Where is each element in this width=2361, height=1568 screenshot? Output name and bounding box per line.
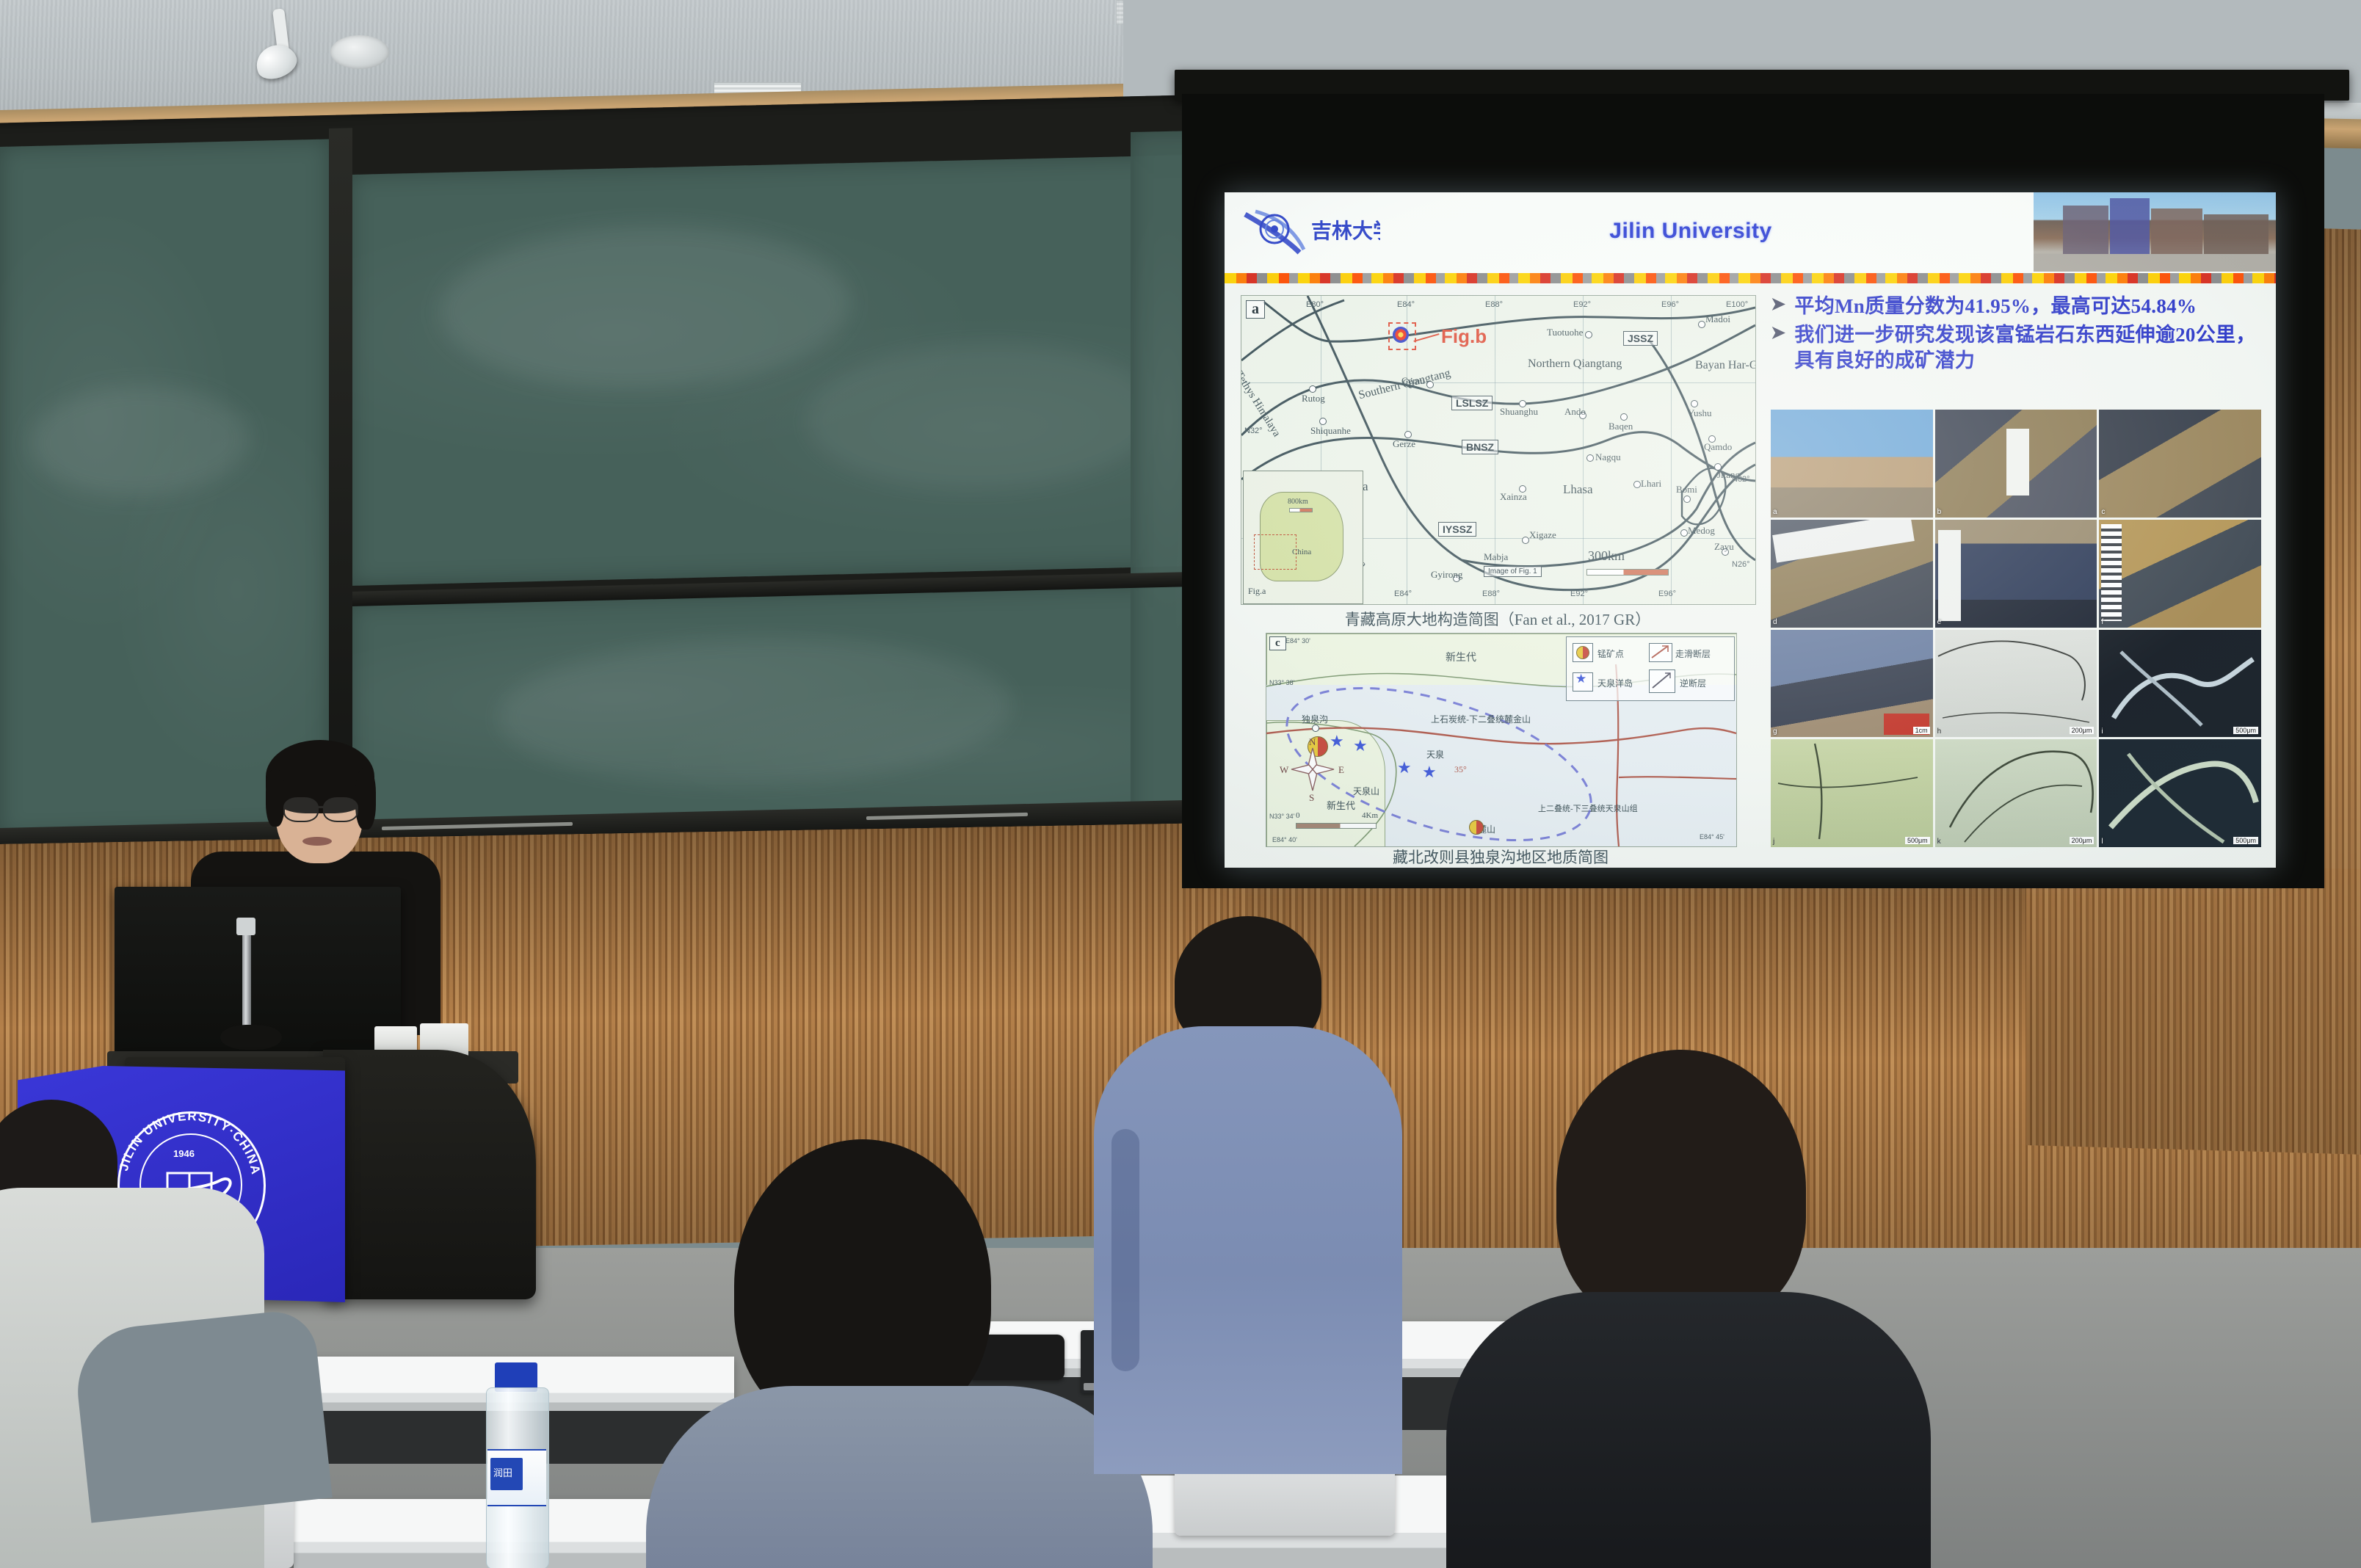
photo-scale-bar: 500μm bbox=[2233, 727, 2258, 734]
photo-scale-bar: 200μm bbox=[2070, 727, 2095, 734]
ocean-island-star: ★ bbox=[1353, 738, 1368, 754]
scalebar-max: 4Km bbox=[1362, 811, 1378, 820]
suture-zone-label: IYSSZ bbox=[1438, 522, 1476, 537]
ocean-island-star: ★ bbox=[1397, 760, 1412, 776]
glasses-bridge bbox=[316, 806, 324, 808]
lon-tick: E80° bbox=[1306, 300, 1324, 309]
coord-label: E84° 40' bbox=[1272, 836, 1297, 843]
photo-scale-bar: 200μm bbox=[2070, 837, 2095, 844]
figure-c-panel-letter: c bbox=[1269, 636, 1286, 650]
city-label: Xigaze bbox=[1529, 529, 1556, 541]
geo-unit-label: 新生代 bbox=[1327, 798, 1355, 812]
sample-photo: e bbox=[1935, 520, 2097, 628]
bullet-text: 我们进一步研究发现该富锰岩石东西延伸逾20公里，具有良好的成矿潜力 bbox=[1794, 322, 2264, 374]
ocean-island-star: ★ bbox=[1422, 764, 1437, 780]
bullet-marker-icon: ➤ bbox=[1771, 322, 1785, 374]
city-label: Lhari bbox=[1641, 478, 1661, 490]
figure-c-geological-map: c 新生代 上石炭统-下二叠统麓金山 上二叠统-下三叠统天泉山组 新生代 独泉沟… bbox=[1266, 633, 1737, 847]
microphone-head bbox=[236, 918, 255, 935]
lon-tick: E100° bbox=[1726, 300, 1748, 309]
coord-label: N33° 34' bbox=[1269, 813, 1294, 820]
photo-tag: c bbox=[2101, 508, 2105, 516]
thin-section-photo: j 500μm bbox=[1771, 739, 1933, 847]
photo-scale-bar: 500μm bbox=[2233, 837, 2258, 844]
city-label: Rutog bbox=[1302, 393, 1325, 404]
city-label: Zayu bbox=[1714, 541, 1734, 553]
photo-tag: e bbox=[1937, 618, 1942, 626]
city-label: Tuotuohe bbox=[1547, 327, 1583, 338]
compass-rose-icon bbox=[1288, 744, 1337, 795]
lat-tick: N32° bbox=[1244, 427, 1263, 435]
lon-tick: E88° bbox=[1485, 300, 1503, 309]
lon-tick: E96° bbox=[1658, 589, 1676, 598]
presenter-hair-side bbox=[266, 769, 285, 827]
city-label: Xainza bbox=[1500, 491, 1527, 503]
photo-tag: l bbox=[2101, 838, 2103, 846]
photo-tag: j bbox=[1773, 838, 1774, 846]
legend-label: 走滑断层 bbox=[1675, 647, 1711, 660]
city-label: Shiquanhe bbox=[1310, 425, 1351, 437]
photo-tag: h bbox=[1937, 727, 1942, 736]
audience-center-blue bbox=[1065, 916, 1432, 1474]
campus-building-photo bbox=[2034, 192, 2276, 272]
audience-arm bbox=[71, 1307, 332, 1522]
coord-label: E84° 45' bbox=[1700, 833, 1724, 841]
dip-label: 35° bbox=[1454, 764, 1467, 775]
slide-accent-bar bbox=[1225, 273, 2276, 283]
audience-blue-shirt bbox=[1094, 1026, 1402, 1474]
city-label: Medog bbox=[1688, 525, 1715, 537]
terrane-label: Lhasa bbox=[1563, 482, 1593, 497]
compass-w: W bbox=[1280, 764, 1288, 776]
bullet-item: ➤ 平均Mn质量分数为41.95%，最高可达54.84% bbox=[1771, 294, 2264, 319]
audience-black-tee bbox=[1446, 1292, 1931, 1568]
geo-unit-label: 新生代 bbox=[1446, 650, 1476, 664]
city-label: Yushu bbox=[1688, 407, 1712, 419]
microphone-base bbox=[220, 1025, 282, 1050]
figure-c-legend: 锰矿点 走滑断层 ★ 天泉洋岛 逆断层 bbox=[1566, 636, 1735, 701]
lon-tick: E88° bbox=[1482, 589, 1500, 598]
glasses-right-lens bbox=[323, 797, 358, 822]
city-label: Baqen bbox=[1609, 421, 1633, 432]
presenter-hair-side bbox=[355, 768, 376, 830]
geo-unit-label: 上二叠统-下三叠统天泉山组 bbox=[1538, 802, 1638, 814]
legend-label: 逆断层 bbox=[1680, 677, 1706, 689]
sample-photo: f bbox=[2099, 520, 2261, 628]
photo-tag: i bbox=[2101, 727, 2103, 736]
thin-section-photo: i 500μm bbox=[2099, 630, 2261, 738]
lon-tick: E84° bbox=[1394, 589, 1412, 598]
outcrop-photo: b bbox=[1935, 410, 2097, 518]
photo-tag: a bbox=[1773, 508, 1777, 516]
city-label: Nagqu bbox=[1595, 451, 1621, 463]
city-label: Mabja bbox=[1484, 551, 1508, 563]
sample-photo: d bbox=[1771, 520, 1933, 628]
glasses-left-lens bbox=[283, 797, 319, 822]
photo-grid: a b c d e f g bbox=[1771, 410, 2261, 847]
field-photo: a bbox=[1771, 410, 1933, 518]
outcrop-photo: c bbox=[2099, 410, 2261, 518]
compass-s: S bbox=[1309, 792, 1314, 804]
compass-e: E bbox=[1338, 764, 1344, 776]
image-note: Image of Fig. 1 bbox=[1484, 566, 1542, 577]
audience-left-foreground bbox=[0, 1100, 279, 1568]
audience-right-black bbox=[1461, 1050, 1916, 1568]
lecture-hall-photo: 吉林大学 Jilin University bbox=[0, 0, 2361, 1568]
bullet-item: ➤ 我们进一步研究发现该富锰岩石东西延伸逾20公里，具有良好的成矿潜力 bbox=[1771, 322, 2264, 374]
place-label: 天泉山 bbox=[1353, 785, 1379, 797]
place-label: 天泉 bbox=[1426, 748, 1444, 761]
lat-tick: N26° bbox=[1732, 560, 1750, 569]
figure-a-tectonic-map: a E80° E84° E88° E92° E96° E100° E84° E8… bbox=[1241, 295, 1756, 605]
podium-body bbox=[323, 1050, 536, 1299]
mn-ore-marker bbox=[1469, 820, 1484, 835]
compass-n: N bbox=[1309, 736, 1316, 748]
figure-a-panel-letter: a bbox=[1246, 300, 1265, 319]
lon-tick: E96° bbox=[1661, 300, 1679, 309]
suture-zone-label: BNSZ bbox=[1462, 440, 1498, 454]
slide-university-title: Jilin University bbox=[1570, 219, 1812, 244]
slide-header: 吉林大学 Jilin University bbox=[1225, 192, 2276, 273]
microphone-stand bbox=[242, 931, 251, 1039]
thin-section-photo: l 500μm bbox=[2099, 739, 2261, 847]
shirt-fold bbox=[1111, 1129, 1139, 1371]
bullet-marker-icon: ➤ bbox=[1771, 294, 1785, 319]
inset-country-label: China bbox=[1292, 548, 1311, 556]
photo-tag: d bbox=[1773, 618, 1777, 626]
scale-bar bbox=[1586, 569, 1669, 576]
photo-tag: g bbox=[1773, 727, 1777, 736]
jilin-university-logo: 吉林大学 bbox=[1241, 207, 1380, 260]
thin-section-photo: h 200μm bbox=[1935, 630, 2097, 738]
svg-text:吉林大学: 吉林大学 bbox=[1311, 219, 1380, 243]
city-label: Madoi bbox=[1705, 313, 1730, 325]
city-label: Jitang bbox=[1717, 469, 1740, 481]
campus-road bbox=[2034, 254, 2276, 272]
city-label: Ando bbox=[1564, 406, 1586, 418]
legend-label: 天泉洋岛 bbox=[1597, 677, 1633, 689]
figure-c-caption: 藏北改则县独泉沟地区地质简图 bbox=[1266, 846, 1736, 868]
figb-location-marker bbox=[1393, 327, 1409, 343]
photo-scale-bar: 500μm bbox=[1905, 837, 1930, 844]
presenter-mouth bbox=[302, 837, 332, 846]
bottle-label: 润田 bbox=[487, 1449, 546, 1506]
suture-zone-label: LSLSZ bbox=[1451, 396, 1493, 410]
inset-scale-label: 800km bbox=[1288, 498, 1308, 506]
place-label: 独泉沟 bbox=[1302, 713, 1328, 725]
scale-label: 300km bbox=[1588, 548, 1625, 564]
slide-bullet-list: ➤ 平均Mn质量分数为41.95%，最高可达54.84% ➤ 我们进一步研究发现… bbox=[1771, 294, 2264, 377]
audience-hair bbox=[1556, 1050, 1806, 1329]
legend-star-icon: ★ bbox=[1575, 672, 1586, 685]
lon-tick: E92° bbox=[1573, 300, 1591, 309]
lon-tick: E84° bbox=[1397, 300, 1415, 309]
presentation-slide[interactable]: 吉林大学 Jilin University bbox=[1225, 192, 2276, 868]
city-label: Bomi bbox=[1676, 484, 1697, 496]
lon-tick: E92° bbox=[1570, 589, 1588, 598]
outcrop-photo: g 1cm bbox=[1771, 630, 1933, 738]
city-label: Gyirong bbox=[1431, 569, 1462, 581]
bullet-text: 平均Mn质量分数为41.95%，最高可达54.84% bbox=[1794, 294, 2197, 319]
recessed-downlight-icon bbox=[330, 35, 389, 69]
photo-tag: b bbox=[1937, 508, 1942, 516]
inset-panel-label: Fig.a bbox=[1248, 586, 1266, 597]
city-label: Gemu bbox=[1401, 375, 1425, 387]
bottle-brand: 润田 bbox=[493, 1465, 512, 1479]
legend-label: 锰矿点 bbox=[1597, 647, 1624, 660]
coord-label: N33° 38' bbox=[1269, 679, 1294, 686]
photo-tag: k bbox=[1937, 838, 1941, 846]
city-label: Qamdo bbox=[1704, 441, 1732, 453]
water-bottle[interactable]: 润田 bbox=[474, 1362, 555, 1568]
figure-c-scale-bar bbox=[1296, 823, 1377, 829]
blackboard-panel-center-upper bbox=[351, 154, 1232, 586]
figb-callout-label: Fig.b bbox=[1441, 325, 1487, 348]
terrane-label: Northern Qiangtang bbox=[1528, 357, 1622, 371]
suture-zone-label: JSSZ bbox=[1623, 331, 1658, 346]
photo-tag: f bbox=[2101, 618, 2103, 626]
china-inset-map: China 800km Fig.a bbox=[1243, 471, 1363, 604]
thin-section-photo: k 200μm bbox=[1935, 739, 2097, 847]
city-label: Gerze bbox=[1393, 438, 1415, 450]
photo-scale-bar: 1cm bbox=[1913, 727, 1930, 734]
figure-a-caption: 青藏高原大地构造简图（Fan et al., 2017 GR） bbox=[1241, 608, 1755, 630]
terrane-label: Bayan Har-Garze bbox=[1695, 359, 1756, 372]
coord-label: E84° 30' bbox=[1285, 637, 1310, 645]
geo-unit-label: 上石炭统-下二叠统麓金山 bbox=[1431, 713, 1531, 725]
scalebar-min: 0 bbox=[1296, 811, 1300, 820]
city-label: Shuanghu bbox=[1500, 406, 1538, 418]
